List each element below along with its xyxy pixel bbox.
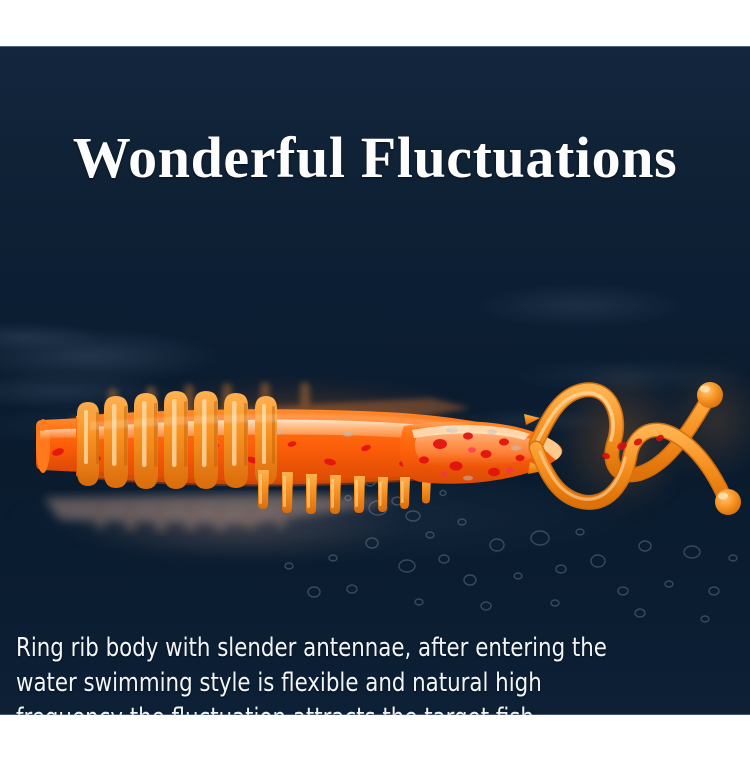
product-feature-banner: Wonderful Fluctuations Ring rib body wit… xyxy=(0,0,750,763)
page-title: Wonderful Fluctuations xyxy=(0,124,750,191)
description-line-1: Ring rib body with slender antennae, aft… xyxy=(16,631,684,666)
description-line-2: water swimming style is flexible and nat… xyxy=(16,666,684,701)
ring-ribs xyxy=(77,391,277,489)
antennae xyxy=(536,390,724,503)
description-line-3: frequency the fluctuation attracts the t… xyxy=(16,701,684,715)
antenna-ball-tips xyxy=(697,382,741,515)
lure-reflection xyxy=(44,494,400,532)
description-text: Ring rib body with slender antennae, aft… xyxy=(16,631,734,715)
hero-panel: Wonderful Fluctuations Ring rib body wit… xyxy=(0,46,750,715)
